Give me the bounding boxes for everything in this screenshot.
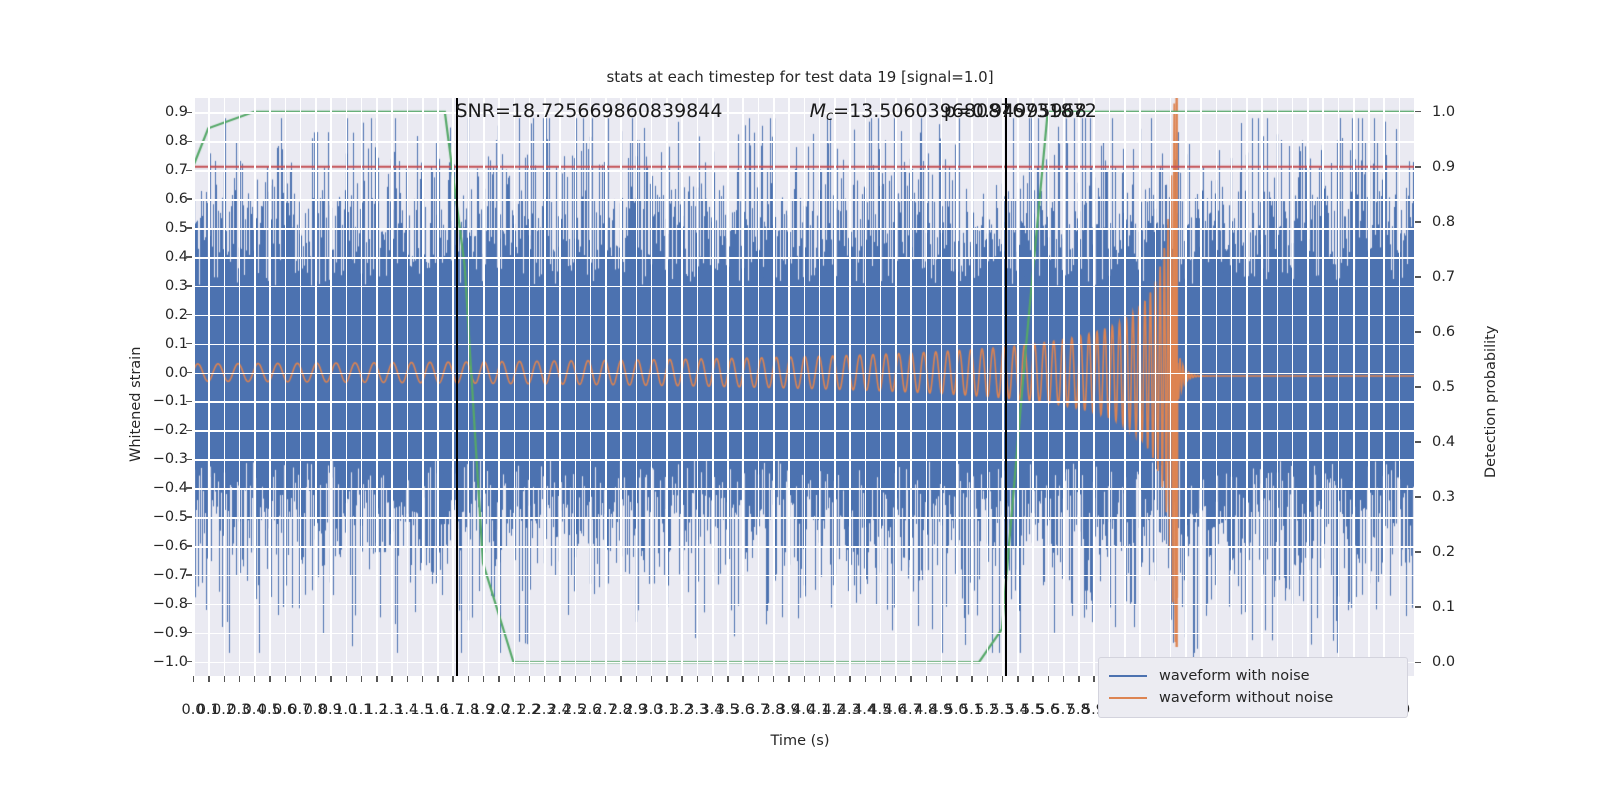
y-axis-right-tick-mark: [1415, 276, 1421, 277]
x-axis-tick-mark: [224, 676, 225, 682]
y-axis-right-tick-mark: [1415, 331, 1421, 332]
grid-line-vertical: [880, 98, 882, 676]
x-axis-tick-mark: [910, 676, 911, 682]
x-axis-tick-mark: [514, 676, 515, 682]
grid-line-vertical: [498, 98, 500, 676]
chart-title: stats at each timestep for test data 19 …: [0, 68, 1600, 86]
x-axis-tick-mark: [1017, 676, 1018, 682]
y-axis-right-tick-label: 0.6: [1432, 324, 1492, 340]
y-axis-right-tick-mark: [1415, 221, 1421, 222]
legend-label-clean: waveform without noise: [1159, 690, 1333, 706]
grid-line-vertical: [315, 98, 317, 676]
x-axis-tick-mark: [651, 676, 652, 682]
grid-line-vertical: [926, 98, 928, 676]
y-axis-right-tick-label: 0.8: [1432, 214, 1492, 230]
x-axis-tick-mark: [666, 676, 667, 682]
grid-line-vertical: [636, 98, 638, 676]
grid-line-vertical: [849, 98, 851, 676]
y-axis-left-tick-mark: [186, 401, 192, 402]
legend-swatch-noise: [1109, 675, 1147, 678]
grid-line-vertical: [239, 98, 241, 676]
y-axis-left-tick-label: 0.3: [142, 278, 188, 294]
grid-line-vertical: [483, 98, 485, 676]
grid-line-vertical: [224, 98, 226, 676]
x-axis-tick-mark: [315, 676, 316, 682]
x-axis-tick-mark: [1093, 676, 1094, 682]
y-axis-left-tick-label: 0.9: [142, 104, 188, 120]
grid-line-vertical: [269, 98, 271, 676]
x-axis-tick-mark: [483, 676, 484, 682]
grid-line-vertical: [590, 98, 592, 676]
legend-swatch-clean: [1109, 697, 1147, 700]
y-axis-left-tick-mark: [186, 459, 192, 460]
legend: waveform with noise waveform without noi…: [1098, 657, 1408, 718]
y-axis-right-tick-mark: [1415, 662, 1421, 663]
x-axis-tick-mark: [1002, 676, 1003, 682]
y-axis-left-tick-mark: [186, 314, 192, 315]
grid-line-vertical: [330, 98, 332, 676]
y-axis-left-tick-label: 0.7: [142, 162, 188, 178]
grid-line-vertical: [910, 98, 912, 676]
y-axis-left-tick-mark: [186, 516, 192, 517]
grid-line-vertical: [1048, 98, 1050, 676]
y-axis-left-tick-mark: [186, 198, 192, 199]
y-axis-left-tick-label: 0.1: [142, 336, 188, 352]
x-axis-tick-mark: [407, 676, 408, 682]
x-axis-tick-mark: [1063, 676, 1064, 682]
x-axis-tick-mark: [269, 676, 270, 682]
y-axis-left-tick-mark: [186, 285, 192, 286]
y-axis-left-tick-mark: [186, 256, 192, 257]
x-axis-tick-mark: [468, 676, 469, 682]
x-axis-tick-mark: [590, 676, 591, 682]
x-axis-tick-mark: [193, 676, 194, 682]
x-axis-tick-mark: [636, 676, 637, 682]
x-axis-tick-mark: [529, 676, 530, 682]
x-axis-tick-mark: [376, 676, 377, 682]
legend-item-waveform-without-noise: waveform without noise: [1109, 687, 1397, 709]
x-axis-tick-mark: [437, 676, 438, 682]
y-axis-left-tick-mark: [186, 603, 192, 604]
grid-line-vertical: [1002, 98, 1004, 676]
signal-window-marker: [1005, 98, 1007, 676]
x-axis-tick-mark: [1078, 676, 1079, 682]
grid-line-vertical: [1032, 98, 1034, 676]
x-axis-tick-mark: [605, 676, 606, 682]
x-axis-tick-mark: [834, 676, 835, 682]
x-axis-tick-mark: [956, 676, 957, 682]
grid-line-vertical: [1200, 98, 1202, 676]
y-axis-left-tick-label: −0.5: [142, 509, 188, 525]
x-axis-tick-mark: [498, 676, 499, 682]
grid-line-vertical: [1170, 98, 1172, 676]
x-axis-tick-mark: [849, 676, 850, 682]
y-axis-left-tick-mark: [186, 227, 192, 228]
grid-line-vertical: [681, 98, 683, 676]
grid-line-vertical: [1078, 98, 1080, 676]
grid-line-vertical: [1368, 98, 1370, 676]
grid-line-vertical: [529, 98, 531, 676]
y-axis-left-tick-mark: [186, 487, 192, 488]
grid-line-vertical: [1261, 98, 1263, 676]
grid-line-vertical: [1338, 98, 1340, 676]
y-axis-right-tick-mark: [1415, 496, 1421, 497]
grid-line-vertical: [1231, 98, 1233, 676]
y-axis-left-tick-label: −1.0: [142, 654, 188, 670]
y-axis-left-tick-mark: [186, 372, 192, 373]
grid-line-vertical: [895, 98, 897, 676]
grid-line-vertical: [1383, 98, 1385, 676]
y-axis-right-tick-label: 0.3: [1432, 489, 1492, 505]
grid-line-vertical: [422, 98, 424, 676]
y-axis-right-tick-mark: [1415, 441, 1421, 442]
grid-line-vertical: [620, 98, 622, 676]
y-axis-left-tick-mark: [186, 343, 192, 344]
grid-line-vertical: [605, 98, 607, 676]
x-axis-tick-mark: [239, 676, 240, 682]
grid-line-vertical: [956, 98, 958, 676]
grid-line-vertical: [346, 98, 348, 676]
x-axis-tick-mark: [361, 676, 362, 682]
legend-item-waveform-with-noise: waveform with noise: [1109, 665, 1397, 687]
y-axis-left-tick-label: −0.7: [142, 567, 188, 583]
y-axis-left-tick-label: −0.3: [142, 451, 188, 467]
grid-line-vertical: [1353, 98, 1355, 676]
y-axis-right-title: Detection probability: [1483, 326, 1499, 478]
y-axis-right-tick-mark: [1415, 111, 1421, 112]
x-axis-tick-mark: [819, 676, 820, 682]
grid-line-vertical: [1017, 98, 1019, 676]
y-axis-left-tick-label: 0.8: [142, 133, 188, 149]
grid-line-vertical: [1139, 98, 1141, 676]
signal-window-marker: [456, 98, 458, 676]
x-axis-tick-mark: [880, 676, 881, 682]
grid-line-vertical: [407, 98, 409, 676]
y-axis-left-tick-mark: [186, 141, 192, 142]
x-axis-tick-mark: [742, 676, 743, 682]
grid-line-vertical: [1155, 98, 1157, 676]
y-axis-left-tick-label: 0.5: [142, 220, 188, 236]
grid-line-vertical: [544, 98, 546, 676]
x-axis-tick-mark: [1032, 676, 1033, 682]
grid-line-vertical: [1322, 98, 1324, 676]
x-axis-tick-mark: [300, 676, 301, 682]
y-axis-right-tick-label: 0.0: [1432, 654, 1492, 670]
grid-line-vertical: [727, 98, 729, 676]
y-axis-left-tick-label: 0.0: [142, 365, 188, 381]
x-axis-tick-mark: [422, 676, 423, 682]
x-axis-tick-mark: [697, 676, 698, 682]
legend-label-noise: waveform with noise: [1159, 668, 1310, 684]
y-axis-right-tick-label: 0.4: [1432, 434, 1492, 450]
y-axis-right-tick-mark: [1415, 386, 1421, 387]
y-axis-left-tick-label: −0.4: [142, 480, 188, 496]
grid-line-vertical: [514, 98, 516, 676]
grid-line-vertical: [987, 98, 989, 676]
grid-line-vertical: [1185, 98, 1187, 676]
grid-line-vertical: [651, 98, 653, 676]
x-axis-tick-mark: [941, 676, 942, 682]
grid-line-vertical: [971, 98, 973, 676]
x-axis-tick-mark: [727, 676, 728, 682]
x-axis-tick-mark: [330, 676, 331, 682]
grid-line-vertical: [758, 98, 760, 676]
y-axis-left-tick-label: −0.2: [142, 422, 188, 438]
grid-line-vertical: [300, 98, 302, 676]
grid-line-vertical: [468, 98, 470, 676]
x-axis-tick-mark: [773, 676, 774, 682]
x-axis-tick-mark: [452, 676, 453, 682]
grid-line-vertical: [773, 98, 775, 676]
grid-line-vertical: [1063, 98, 1065, 676]
grid-line-vertical: [865, 98, 867, 676]
grid-line-vertical: [1246, 98, 1248, 676]
x-axis-tick-mark: [1048, 676, 1049, 682]
grid-line-vertical: [666, 98, 668, 676]
grid-line-vertical: [1093, 98, 1095, 676]
grid-line-vertical: [1124, 98, 1126, 676]
grid-line-vertical: [742, 98, 744, 676]
y-axis-right-tick-mark: [1415, 606, 1421, 607]
x-axis-tick-mark: [865, 676, 866, 682]
x-axis-tick-mark: [620, 676, 621, 682]
grid-line-vertical: [1277, 98, 1279, 676]
grid-line-vertical: [1307, 98, 1309, 676]
y-axis-right-tick-label: 0.2: [1432, 544, 1492, 560]
x-axis-tick-mark: [712, 676, 713, 682]
y-axis-left-tick-label: −0.1: [142, 393, 188, 409]
grid-line-vertical: [941, 98, 943, 676]
x-axis-tick-mark: [208, 676, 209, 682]
y-axis-left-tick-mark: [186, 170, 192, 171]
x-axis-tick-mark: [575, 676, 576, 682]
grid-line-vertical: [361, 98, 363, 676]
y-axis-right-tick-label: 0.7: [1432, 269, 1492, 285]
x-axis-tick-mark: [788, 676, 789, 682]
y-axis-left-tick-mark: [186, 661, 192, 662]
plot-area: [193, 98, 1414, 676]
grid-line-vertical: [804, 98, 806, 676]
y-axis-left-tick-label: −0.9: [142, 625, 188, 641]
y-axis-left-tick-label: −0.6: [142, 538, 188, 554]
y-axis-left-tick-mark: [186, 632, 192, 633]
x-axis-tick-mark: [971, 676, 972, 682]
grid-line-vertical: [697, 98, 699, 676]
grid-line-vertical: [1292, 98, 1294, 676]
grid-line-vertical: [559, 98, 561, 676]
grid-line-vertical: [376, 98, 378, 676]
grid-line-vertical: [819, 98, 821, 676]
x-axis-tick-mark: [254, 676, 255, 682]
annotation-snr: SNR=18.725669860839844: [456, 100, 723, 122]
y-axis-left-tick-mark: [186, 430, 192, 431]
y-axis-left-tick-label: 0.6: [142, 191, 188, 207]
grid-line-vertical: [437, 98, 439, 676]
x-axis-title: Time (s): [0, 733, 1600, 749]
x-axis-tick-mark: [544, 676, 545, 682]
chart-root: stats at each timestep for test data 19 …: [0, 0, 1600, 800]
x-axis-tick-mark: [391, 676, 392, 682]
x-axis-tick-mark: [346, 676, 347, 682]
grid-line-vertical: [1399, 98, 1401, 676]
y-axis-left-tick-mark: [186, 112, 192, 113]
grid-line-vertical: [1109, 98, 1111, 676]
y-axis-left-tick-label: −0.8: [142, 596, 188, 612]
grid-line-vertical: [193, 98, 195, 676]
annotation-detection-prob: p=0.94995968: [944, 100, 1087, 122]
y-axis-right-tick-label: 0.9: [1432, 159, 1492, 175]
grid-line-vertical: [575, 98, 577, 676]
grid-line-vertical: [452, 98, 454, 676]
grid-line-vertical: [712, 98, 714, 676]
y-axis-left-tick-mark: [186, 545, 192, 546]
x-axis-tick-mark: [285, 676, 286, 682]
x-axis-tick-mark: [895, 676, 896, 682]
x-axis-tick-mark: [926, 676, 927, 682]
grid-line-vertical: [834, 98, 836, 676]
x-axis-tick-mark: [559, 676, 560, 682]
grid-line-vertical: [285, 98, 287, 676]
x-axis-tick-mark: [758, 676, 759, 682]
y-axis-right-tick-label: 1.0: [1432, 104, 1492, 120]
y-axis-left-tick-mark: [186, 574, 192, 575]
y-axis-right-tick-mark: [1415, 551, 1421, 552]
y-axis-right-tick-label: 0.5: [1432, 379, 1492, 395]
x-axis-tick-mark: [681, 676, 682, 682]
grid-line-vertical: [1216, 98, 1218, 676]
grid-line-vertical: [254, 98, 256, 676]
grid-line-vertical: [208, 98, 210, 676]
y-axis-right-tick-label: 0.1: [1432, 599, 1492, 615]
y-axis-right-tick-mark: [1415, 166, 1421, 167]
x-axis-tick-mark: [987, 676, 988, 682]
x-axis-tick-mark: [804, 676, 805, 682]
grid-line-vertical: [391, 98, 393, 676]
y-axis-left-tick-label: 0.4: [142, 249, 188, 265]
y-axis-left-tick-label: 0.2: [142, 307, 188, 323]
grid-line-vertical: [788, 98, 790, 676]
